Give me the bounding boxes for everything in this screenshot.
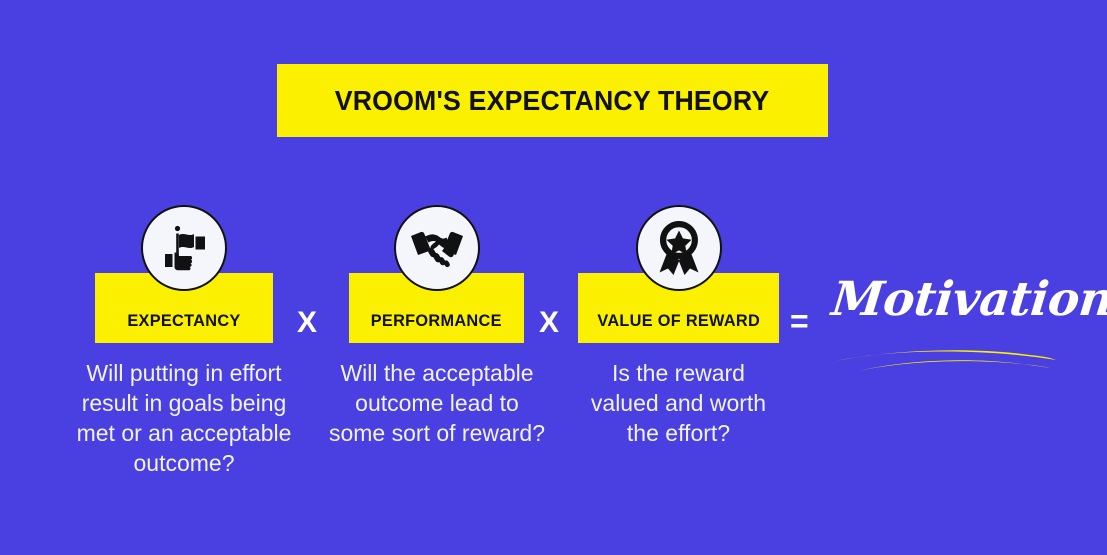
description-expectancy: Will putting in effort result in goals b… — [62, 358, 306, 478]
description-performance: Will the acceptable outcome lead to some… — [326, 358, 548, 448]
motivation-label: Motivation — [830, 276, 1065, 323]
factor-label: PERFORMANCE — [371, 311, 502, 331]
motivation-result: Motivation — [832, 276, 1062, 386]
factor-label: EXPECTANCY — [127, 311, 240, 331]
hand-holding-flag-icon — [141, 205, 227, 291]
handshake-icon — [394, 205, 480, 291]
vrooms-expectancy-theory-infographic: VROOM'S EXPECTANCY THEORY EXPECT — [0, 0, 1107, 555]
award-ribbon-star-icon — [636, 205, 722, 291]
yellow-brush-swoosh-icon — [834, 344, 1060, 382]
factor-label: VALUE OF REWARD — [597, 311, 760, 331]
multiply-operator-1: X — [297, 308, 317, 338]
page-title: VROOM'S EXPECTANCY THEORY — [335, 85, 770, 117]
description-value-of-reward: Is the reward valued and worth the effor… — [576, 358, 781, 448]
multiply-operator-2: X — [539, 308, 559, 338]
equals-operator: = — [790, 305, 809, 337]
title-banner: VROOM'S EXPECTANCY THEORY — [277, 64, 828, 137]
